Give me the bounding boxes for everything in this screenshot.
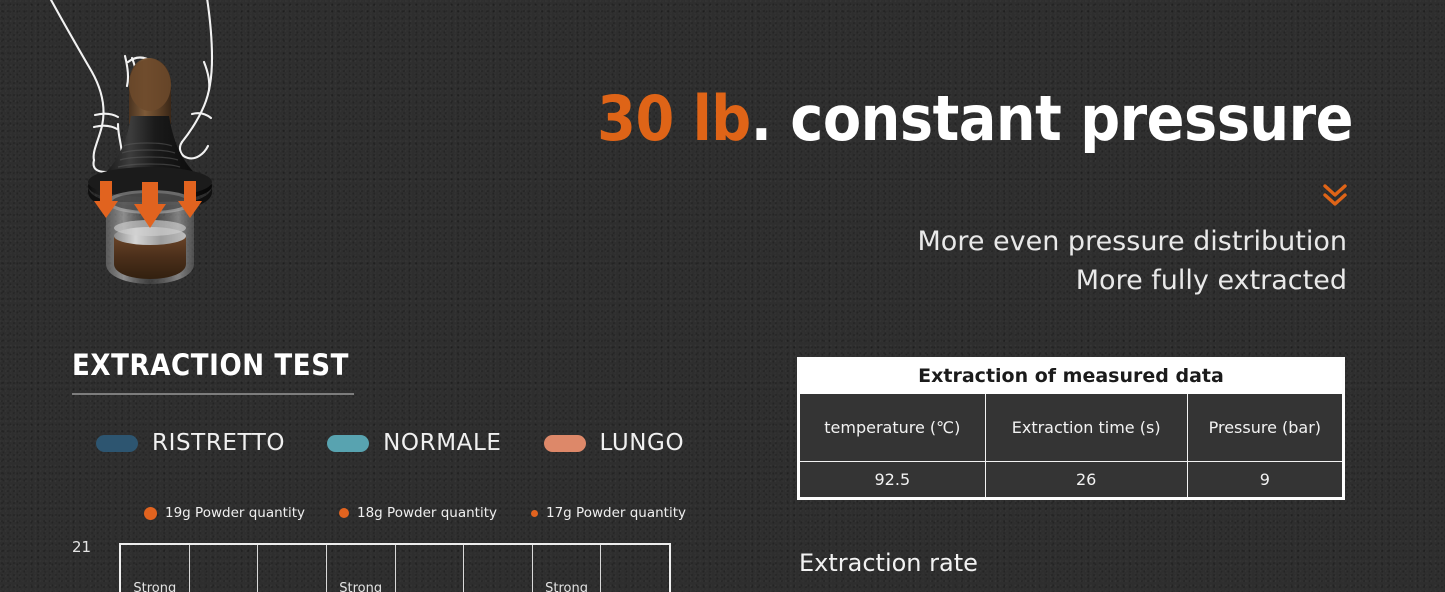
page-title: EXTRACTION TEST	[72, 348, 349, 382]
legend-dot-19g	[144, 507, 157, 520]
legend-item-18g: 18g Powder quantity	[339, 505, 497, 521]
table-caption: Extraction of measured data	[800, 360, 1342, 394]
headline-rest: . constant pressure	[751, 82, 1353, 155]
legend-item-lungo: LUNGO	[544, 430, 685, 456]
table: temperature (℃) Extraction time (s) Pres…	[800, 394, 1342, 497]
hand-tamping-coffee-illustration	[32, 0, 264, 296]
legend-swatch-normale	[327, 435, 369, 452]
legend-dot-17g	[531, 510, 538, 517]
title-divider	[72, 393, 354, 395]
double-chevron-down-icon	[1320, 182, 1350, 208]
subline-line-1: More even pressure distribution	[918, 222, 1347, 261]
extraction-rate-heading: Extraction rate	[799, 549, 978, 577]
legend-label-18g: 18g Powder quantity	[357, 505, 497, 521]
table-row: 92.5 26 9	[800, 462, 1342, 498]
table-header-extraction-time: Extraction time (s)	[985, 394, 1187, 462]
cell-extraction-time: 26	[985, 462, 1187, 498]
legend-dot-18g	[339, 508, 349, 518]
legend-swatch-ristretto	[96, 435, 138, 452]
cell-pressure: 9	[1187, 462, 1342, 498]
legend-item-ristretto: RISTRETTO	[96, 430, 285, 456]
headline-accent: 30 lb	[597, 82, 751, 155]
chart-column-label: Strong	[133, 581, 176, 592]
legend-label-17g: 17g Powder quantity	[546, 505, 686, 521]
legend-item-19g: 19g Powder quantity	[144, 505, 305, 521]
chart-y-axis-top-tick: 21	[72, 538, 91, 556]
chart-column	[190, 545, 259, 592]
legend-label-ristretto: RISTRETTO	[152, 430, 285, 456]
legend-label-normale: NORMALE	[383, 430, 501, 456]
table-header-row: temperature (℃) Extraction time (s) Pres…	[800, 394, 1342, 462]
legend-label-lungo: LUNGO	[600, 430, 685, 456]
chart-plot-area: Strong Strong Strong	[119, 543, 671, 592]
page-headline: 30 lb. constant pressure	[597, 88, 1353, 150]
cell-temperature: 92.5	[800, 462, 985, 498]
roast-legend: RISTRETTO NORMALE LUNGO	[96, 430, 684, 456]
chart-column-label: Strong	[545, 581, 588, 592]
legend-label-19g: 19g Powder quantity	[165, 505, 305, 521]
product-feature-page: 30 lb. constant pressure More even press…	[0, 0, 1445, 592]
chart-column: Strong	[327, 545, 396, 592]
legend-item-normale: NORMALE	[327, 430, 501, 456]
legend-item-17g: 17g Powder quantity	[531, 505, 686, 521]
powder-quantity-legend: 19g Powder quantity 18g Powder quantity …	[144, 505, 686, 521]
subline-line-2: More fully extracted	[918, 261, 1347, 300]
chart-column	[396, 545, 465, 592]
chart-column: Strong	[533, 545, 602, 592]
legend-swatch-lungo	[544, 435, 586, 452]
chart-column: Strong	[121, 545, 190, 592]
chart-column-label: Strong	[339, 581, 382, 592]
chart-column	[464, 545, 533, 592]
measured-data-table: Extraction of measured data temperature …	[797, 357, 1345, 500]
table-header-temperature: temperature (℃)	[800, 394, 985, 462]
table-header-pressure: Pressure (bar)	[1187, 394, 1342, 462]
chart-column	[601, 545, 669, 592]
chart-column	[258, 545, 327, 592]
hero-subline: More even pressure distribution More ful…	[918, 222, 1347, 300]
